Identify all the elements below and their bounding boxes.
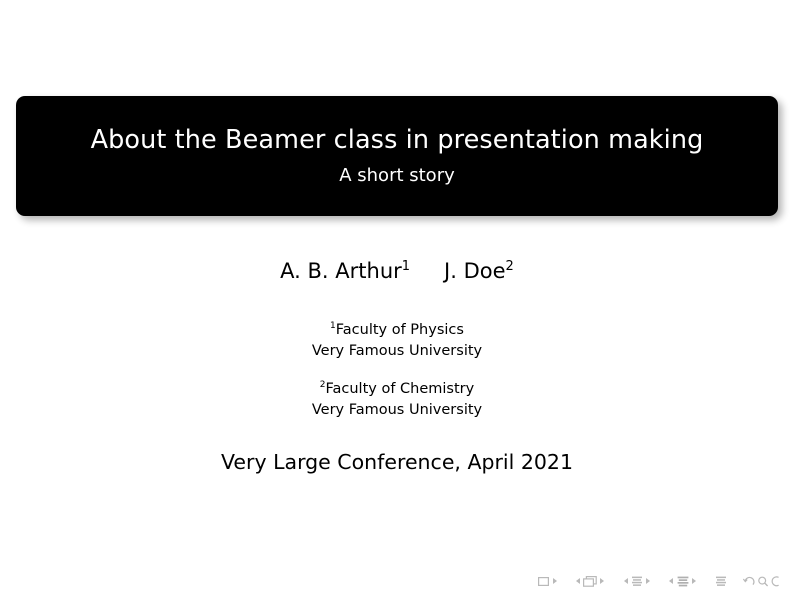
presentation-subtitle: A short story	[339, 166, 455, 186]
nav-group-section[interactable]	[666, 572, 699, 590]
conference-date: Very Large Conference, April 2021	[0, 450, 794, 475]
affiliation-institution: Very Famous University	[0, 341, 794, 362]
section-prev-icon[interactable]	[669, 578, 673, 584]
affiliation-institution: Very Famous University	[0, 400, 794, 421]
frame-icon[interactable]	[583, 576, 597, 587]
affiliation-department: Faculty of Chemistry	[326, 381, 475, 397]
author-entry: J. Doe2	[444, 259, 514, 284]
search-icon[interactable]	[757, 576, 769, 587]
subsection-next-icon[interactable]	[646, 578, 650, 584]
section-next-icon[interactable]	[692, 578, 696, 584]
author-name: J. Doe	[444, 259, 505, 283]
affiliation-department-line: 2Faculty of Chemistry	[0, 379, 794, 400]
affiliation-entry: 2Faculty of Chemistry Very Famous Univer…	[0, 379, 794, 420]
subsection-icon[interactable]	[631, 576, 643, 587]
affiliation-list: 1Faculty of Physics Very Famous Universi…	[0, 320, 794, 420]
affiliation-entry: 1Faculty of Physics Very Famous Universi…	[0, 320, 794, 361]
slide-icon[interactable]	[538, 577, 549, 586]
author-affiliation-marker: 2	[506, 259, 514, 274]
title-block-panel: About the Beamer class in presentation m…	[16, 96, 778, 216]
nav-group-frame[interactable]	[573, 572, 608, 590]
title-block: About the Beamer class in presentation m…	[16, 96, 778, 216]
frame-next-icon[interactable]	[600, 578, 604, 584]
subsection-prev-icon[interactable]	[624, 578, 628, 584]
document-icon[interactable]	[715, 576, 727, 587]
nav-group-document[interactable]	[715, 572, 727, 590]
beamer-title-slide: About the Beamer class in presentation m…	[0, 0, 794, 596]
back-icon[interactable]	[743, 576, 755, 587]
affiliation-department: Faculty of Physics	[336, 322, 464, 338]
author-name: A. B. Arthur	[280, 259, 402, 283]
goto-icon[interactable]	[771, 576, 780, 587]
nav-group-slide[interactable]	[538, 572, 559, 590]
author-list: A. B. Arthur1J. Doe2	[0, 259, 794, 284]
section-icon[interactable]	[677, 576, 689, 587]
author-affiliation-marker: 1	[402, 259, 410, 274]
slide-next-icon[interactable]	[553, 578, 557, 584]
presentation-title: About the Beamer class in presentation m…	[71, 126, 724, 154]
frame-prev-icon[interactable]	[576, 578, 580, 584]
affiliation-department-line: 1Faculty of Physics	[0, 320, 794, 341]
beamer-navigation-bar[interactable]	[538, 572, 780, 590]
nav-group-subsection[interactable]	[621, 572, 654, 590]
author-entry: A. B. Arthur1	[280, 259, 410, 284]
nav-group-tools[interactable]	[743, 572, 780, 590]
